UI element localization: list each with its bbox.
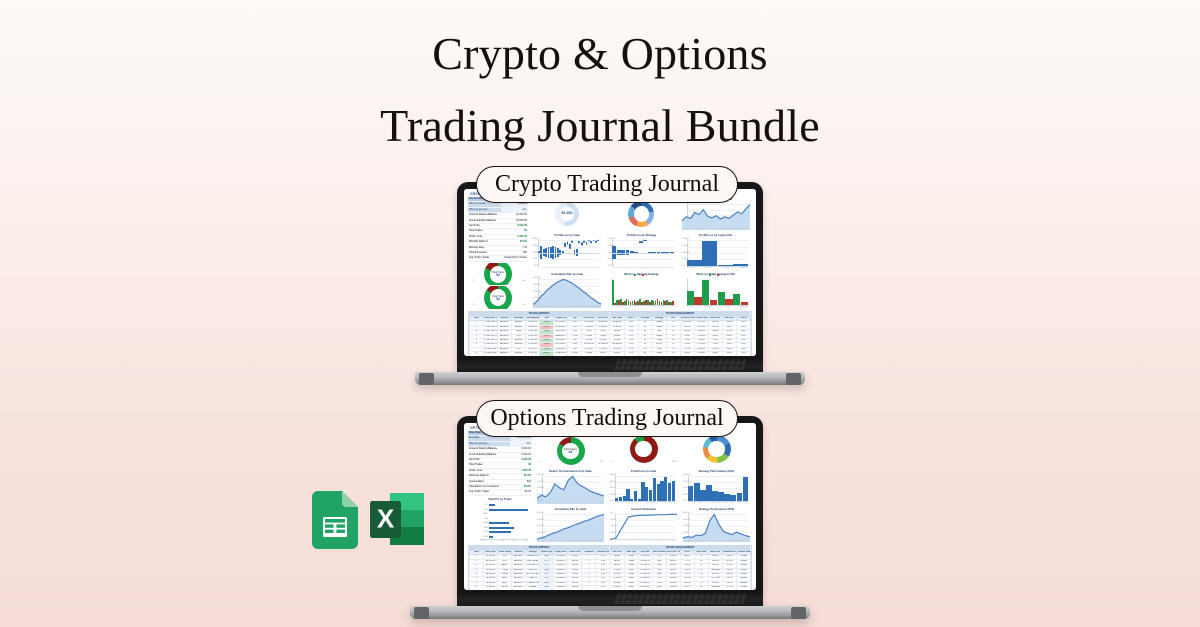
xtick: 16	[570, 267, 572, 269]
xtick: 5	[635, 540, 636, 542]
cumulative-pl-by-trade-area-card: Cumulative P&L by trade8,000.006,000.004…	[531, 272, 603, 309]
xtick: BCS	[724, 502, 727, 504]
total-trades-donut: Total Trades64070	[537, 436, 604, 466]
xtick: 16	[746, 540, 748, 542]
xtick: 22	[587, 306, 589, 308]
xtick: 16	[742, 228, 744, 230]
xtick: ETH/USD	[705, 267, 712, 269]
table-column-header[interactable]: Planned Profit	[680, 317, 694, 321]
options-metrics-table: Start Date1 Jan 2024End Date31 Dec 2024F…	[468, 431, 532, 496]
table-group-header: TRADE MANAGEMENT	[610, 546, 751, 550]
strategy-performance-roi-area-card: Strategy Performance (ROI)300.00%200.00%…	[681, 507, 752, 543]
table-column-header[interactable]: Option Type	[540, 551, 554, 555]
xtick: 16	[672, 306, 674, 308]
xtick: 2	[690, 228, 691, 230]
crypto-journal-label-text: Crypto Trading Journal	[495, 171, 719, 198]
table-column-header[interactable]: Crypto Pair	[554, 317, 568, 321]
file-format-icons: X	[312, 491, 426, 554]
win-loss-trade-by-crypto-pair-bar-legend: WinLoss	[709, 274, 723, 276]
xtick: 1	[688, 540, 689, 542]
metric-label: Account Ending Balance	[468, 218, 501, 223]
xtick: 13	[587, 502, 589, 504]
bar	[672, 481, 675, 501]
options-data-table: TRADE ENTRIESTRADE MANAGEMENTS/NoEntry D…	[468, 545, 752, 590]
table-group-header: TRADE MANAGEMENT	[610, 312, 751, 316]
xtick: 10	[661, 540, 663, 542]
table-cell: BTC/USDT	[554, 321, 568, 325]
xtick: LP	[712, 502, 714, 504]
xtick: 21	[584, 306, 586, 308]
xtick: 16	[570, 306, 572, 308]
profit-loss-by-trade-bar-opt-xticks: 12345678910111213141516	[615, 502, 675, 504]
xtick: 13	[660, 502, 662, 504]
cumulative-pl-by-trade-area-ytick: 8,000.00	[533, 277, 540, 279]
bar	[639, 241, 643, 243]
table-cell: Covered Call	[526, 555, 540, 559]
strategy-performance-donut-plot	[683, 432, 750, 466]
hbar	[489, 536, 493, 538]
bar	[743, 477, 748, 501]
xtick: 13	[562, 306, 564, 308]
xtick: 9	[713, 228, 714, 230]
xtick: 26	[597, 306, 599, 308]
strategy-performance-pnl-bar-card: Strategy Performance (P&L)2,000.001,500.…	[681, 469, 752, 505]
xtick: DOT	[633, 267, 637, 269]
crypto-gauge-1-donut: Total Trade52060	[470, 264, 526, 285]
bar	[634, 491, 637, 501]
xtick: 23	[589, 267, 591, 269]
profit-loss-by-trade-bar-plot: 600.00400.00200.000.00-200.0012345678910…	[533, 238, 601, 269]
hbar-label: META	[480, 536, 488, 538]
profit-loss-by-crypto-pair-bar-xticks: BTC/USDETH/USDSOL/USDADA/USD	[687, 267, 748, 269]
bar	[712, 491, 717, 501]
profit-loss-by-trade-bar-opt-card: Profit/Loss by trade800.00600.00400.0020…	[608, 469, 679, 505]
table-cell: Covered Call	[526, 581, 540, 585]
bar	[706, 485, 711, 501]
profit-loss-by-trade-bar-opt-ytick: 0.00	[610, 500, 614, 502]
xtick: 2	[620, 540, 621, 542]
xtick: 11	[557, 306, 559, 308]
bar	[571, 241, 573, 243]
xtick: 12	[654, 306, 656, 308]
hbar-row: AMD	[480, 526, 528, 529]
table-column-header[interactable]: Trade Type	[624, 551, 638, 555]
xtick: 2	[546, 502, 547, 504]
profit-loss-by-trade-bar-bars	[533, 238, 601, 269]
xtick: LC	[706, 502, 708, 504]
total-trades-donut-center: Total Trades64	[562, 443, 579, 460]
xtick: 12	[582, 502, 584, 504]
xtick: 16	[592, 540, 594, 542]
xtick: 12	[655, 502, 657, 504]
bar	[694, 483, 699, 501]
hbar-label: AAPL	[480, 513, 488, 515]
cumulative-pl-by-trade-area-opt-ytick: 5,000.00	[537, 512, 544, 514]
xtick: 3	[620, 306, 621, 308]
total-pl-by-ticker-hbar-plot: SPYQQQAAPLTSLANVDAAMDMSFTMETA-1,00001,00…	[470, 502, 530, 542]
metric-value: 66.25	[510, 490, 532, 495]
xtick: 19	[578, 267, 580, 269]
xtick: 6	[630, 306, 631, 308]
account-drawdown-line-ytick: 0.00	[610, 512, 614, 514]
xtick: 4	[697, 228, 698, 230]
crypto-table-group-headers: TRADE ENTRIESTRADE MANAGEMENT	[469, 312, 751, 316]
table-column-header[interactable]: Strike Price	[568, 551, 582, 555]
xtick: 18	[576, 267, 578, 269]
xtick: 5	[629, 502, 630, 504]
xtick: 3	[695, 540, 696, 542]
xtick: 11	[667, 540, 669, 542]
crypto-gauge-1-donut-center: Total Trade52	[490, 266, 507, 283]
crypto-gauge-1-donut-center-value: 52	[496, 274, 500, 277]
options-dashboard-body: Start Date1 Jan 2024End Date31 Dec 2024F…	[468, 431, 752, 543]
xtick: MATIC	[654, 267, 659, 269]
hbar-label: TSLA	[480, 518, 488, 520]
xtick: 16	[673, 502, 675, 504]
xtick: 17	[573, 306, 575, 308]
xtick: CAL	[745, 502, 748, 504]
table-cell: 7 Jan 2024 09:00	[484, 321, 498, 325]
xtick: 14	[733, 228, 735, 230]
xtick: 9	[643, 502, 644, 504]
laptop-options-base	[410, 606, 810, 619]
xtick: 9	[641, 306, 642, 308]
options-dashboard: OPTIONS TRADING JOURNAL DASHBOARDStart D…	[464, 423, 756, 590]
hbar-label: SPY	[480, 504, 488, 506]
xtick: 2	[619, 502, 620, 504]
legend-label: Loss	[719, 274, 723, 276]
table-cell: 8 Jan 2024 08:40	[484, 330, 498, 334]
xtick: 10	[554, 267, 556, 269]
xtick: 4	[626, 502, 627, 504]
headline-line-1: Crypto & Options	[0, 18, 1200, 90]
table-column-header[interactable]: Exit Premium	[652, 551, 666, 555]
profit-loss-by-crypto-pair-area-svg	[682, 202, 750, 230]
table-column-header[interactable]: Starting Balance	[526, 317, 540, 321]
page-title: Crypto & Options Trading Journal Bundle	[0, 18, 1200, 162]
laptop-crypto-screen: CRYPTO TRADING JOURNAL DASHBOARDCurrent …	[464, 189, 756, 356]
strategy-performance-roi-area-ytick: 300.00%	[683, 512, 690, 514]
table-column-header[interactable]: Position Size	[694, 317, 708, 321]
table-column-header[interactable]: Expiry Date	[554, 551, 568, 555]
laptop-crypto-lid: CRYPTO TRADING JOURNAL DASHBOARDCurrent …	[457, 182, 763, 372]
bar-group	[718, 278, 733, 305]
win-loss-trade-by-strategy-bar-card: Win/Loss trade by StrategyWinLoss1234567…	[605, 272, 677, 309]
xtick: 0	[492, 540, 493, 542]
total-trades-donut-min: 0	[540, 461, 541, 463]
profit-loss-by-trade-bar-ytick: 200.00	[533, 252, 539, 254]
xtick: 7	[634, 306, 635, 308]
laptop-options-keyboard	[457, 591, 763, 606]
hbar	[489, 504, 495, 506]
crypto-table: S/NoEntry Date / TimeAccountExchangeStar…	[469, 316, 751, 356]
hbar-row: SPY	[480, 504, 528, 507]
bar	[641, 482, 644, 501]
bar	[702, 241, 717, 266]
win-loss-trade-by-strategy-bar-plot: WinLoss12345678910111213141516	[607, 277, 675, 308]
xtick: 14	[663, 306, 665, 308]
xtick: 1,000	[501, 540, 505, 542]
profit-loss-by-strategy-bar-plot: 1,500.001,000.00500.000.00-500.00BTCETHS…	[607, 238, 675, 269]
bar	[668, 483, 671, 501]
profit-loss-by-crypto-pair-bar-ytick: 3,000.00	[682, 245, 689, 247]
hbar-label: NVDA	[480, 522, 488, 524]
laptop-crypto-keyboard	[457, 357, 763, 372]
xtick: 8	[651, 540, 652, 542]
table-column-header[interactable]: Entry Date / Time	[484, 317, 498, 321]
xtick: 5	[554, 540, 555, 542]
xtick: 11	[651, 502, 653, 504]
table-cell: SOL/USDT	[554, 330, 568, 334]
xtick: 5	[700, 228, 701, 230]
metric-row: Avg. Profit / TradeMargin/Short Trades	[468, 256, 528, 261]
profit-loss-by-strategy-bar-ytick: 1,500.00	[607, 238, 614, 240]
xtick: 22	[587, 267, 589, 269]
xtick: 3	[549, 502, 550, 504]
xtick: 15	[669, 502, 671, 504]
xtick: 7	[709, 540, 710, 542]
bar	[653, 478, 656, 501]
hbar-row: NVDA	[480, 522, 528, 525]
xtick: 1	[615, 502, 616, 504]
bar-loss	[694, 297, 701, 305]
table-column-header[interactable]: Net Profit / Loss	[666, 551, 680, 555]
win-rate-donut-center-value: 55.45%	[561, 212, 573, 215]
xtick: 4	[553, 502, 554, 504]
bar-win	[718, 292, 725, 305]
table-column-header[interactable]: Position Status	[736, 551, 750, 555]
table-group-header: TRADE ENTRIES	[469, 312, 610, 316]
xtick: 5	[627, 306, 628, 308]
xtick: 6	[703, 228, 704, 230]
xtick: 1	[687, 228, 688, 230]
return-on-investment-by-trade-line-card: Return On Investment % by trade200.00%15…	[535, 469, 606, 505]
xtick: BNB	[641, 267, 644, 269]
xtick: 5	[702, 540, 703, 542]
cumulative-pl-by-trade-area-ytick: 4,000.00	[533, 291, 540, 293]
xtick: 24	[592, 267, 594, 269]
laptop-options-lid: OPTIONS TRADING JOURNAL DASHBOARDStart D…	[457, 416, 763, 606]
strategy-performance-roi-area-ytick: 100.00%	[683, 525, 690, 527]
xtick: 3	[625, 540, 626, 542]
table-cell: Cash Sec Put	[526, 564, 540, 568]
xtick: AVAX	[645, 267, 649, 269]
xtick: XRP	[629, 267, 632, 269]
profit-loss-donut-max: 100	[672, 461, 676, 463]
profit-loss-by-crypto-pair-bar-ytick: 1,000.00	[682, 258, 689, 260]
xtick: 12	[577, 540, 579, 542]
table-column-header[interactable]: Breakeven Point	[722, 551, 736, 555]
profit-loss-by-crypto-pair-area-xticks: 1234567891011121314151617	[687, 228, 748, 230]
profit-loss-by-strategy-bar-ytick: 500.00	[607, 252, 613, 254]
xtick: 11	[721, 228, 723, 230]
xtick: 2,000	[512, 540, 516, 542]
table-column-header[interactable]: Entry Price	[582, 317, 596, 321]
xtick: 15	[738, 228, 740, 230]
hbar-label: QQQ	[480, 509, 488, 511]
strategy-performance-roi-area-svg	[683, 512, 750, 542]
metric-label: Avg. Profit / Trade	[468, 490, 510, 495]
xtick: 6	[633, 502, 634, 504]
svg-text:X: X	[377, 504, 395, 534]
table-column-header[interactable]: Entry Date	[484, 551, 498, 555]
xtick: 8	[637, 306, 638, 308]
profit-loss-by-strategy-donut-center	[634, 206, 650, 222]
xtick: 14	[664, 502, 666, 504]
xtick: 18	[600, 540, 602, 542]
win-loss-trade-by-crypto-pair-bar-bars	[682, 277, 750, 308]
crypto-dashboard-body: Current Month2024Filter by monthJanuaryF…	[468, 197, 752, 309]
xtick: -1,000	[480, 540, 485, 542]
xtick: 26	[597, 267, 599, 269]
xtick: 25	[595, 306, 597, 308]
xtick: 14	[565, 306, 567, 308]
return-on-investment-by-trade-line-plot: 200.00%150.00%100.00%50.00%0.00%12345678…	[537, 474, 604, 504]
xtick: 11	[578, 502, 580, 504]
metric-row: Avg. Profit / Trade66.25	[468, 490, 532, 495]
profit-loss-by-strategy-bar-xticks: BTCETHSOLADAXRPDOTLTCBNBAVAXLINKMATICATO…	[612, 267, 673, 269]
total-trades-donut-max: 70	[600, 461, 602, 463]
account-drawdown-line-card: Account Drawdown0.00-200.00-400.00-600.0…	[608, 507, 679, 543]
xtick: 6	[641, 540, 642, 542]
total-trades-donut-center-value: 64	[569, 451, 573, 454]
return-on-investment-by-trade-line-ytick: 150.00%	[537, 481, 544, 483]
bar-group	[733, 278, 748, 305]
cumulative-pl-by-trade-area-ytick: 6,000.00	[533, 284, 540, 286]
xtick: 11	[573, 540, 575, 542]
profit-loss-by-crypto-pair-bar-bars	[682, 238, 750, 269]
win-loss-trade-by-crypto-pair-bar-card: Win/Loss Trade by Crypto PairWinLossBTC/…	[680, 272, 752, 309]
profit-loss-by-crypto-pair-bar-card: Profit/Loss by Crypto Pair4,000.003,000.…	[680, 233, 752, 270]
strategy-performance-pnl-bar-ytick: 500.00	[683, 494, 689, 496]
profit-loss-donut-min: 0	[613, 461, 614, 463]
headline-line-2: Trading Journal Bundle	[0, 90, 1200, 162]
cumulative-pl-by-trade-area-ytick: 0.00	[533, 304, 537, 306]
table-cell: DOGE/USDT	[554, 352, 568, 356]
crypto-data-table: TRADE ENTRIESTRADE MANAGEMENTS/NoEntry D…	[468, 311, 752, 356]
xtick: 16	[600, 502, 602, 504]
hbar-row: AAPL	[480, 513, 528, 516]
account-drawdown-line-svg	[610, 512, 677, 542]
xtick: 25	[595, 267, 597, 269]
strategy-performance-roi-area-ytick: 200.00%	[683, 519, 690, 521]
xtick: 6	[557, 540, 558, 542]
xtick: CSP	[699, 502, 702, 504]
profit-loss-by-trade-bar-xticks: 1234567891011121314151617181920212223242…	[538, 267, 599, 269]
win-loss-trade-by-strategy-bar-bars	[607, 277, 675, 308]
cumulative-pl-by-trade-area-opt-ytick: 2,000.00	[537, 532, 544, 534]
xtick: 12	[559, 267, 561, 269]
xtick: 12	[559, 306, 561, 308]
xtick: ATOM	[660, 267, 665, 269]
microsoft-excel-icon-svg: X	[368, 491, 426, 549]
bar-win	[687, 291, 694, 305]
xtick: 4	[551, 540, 552, 542]
xtick: 7	[560, 540, 561, 542]
crypto-journal-label: Crypto Trading Journal	[476, 166, 738, 203]
profit-loss-by-crypto-pair-bar-ytick: 4,000.00	[682, 238, 689, 240]
table-cell: 9 Jan 2024 15:45	[484, 343, 498, 347]
xtick: 7	[636, 502, 637, 504]
strategy-performance-donut	[683, 432, 750, 466]
xtick: 15	[588, 540, 590, 542]
bar	[586, 242, 588, 245]
xtick: LINK	[650, 267, 654, 269]
xtick: 9	[566, 540, 567, 542]
profit-loss-by-trade-bar-ytick: 400.00	[533, 245, 539, 247]
xtick: SOL/USD	[723, 306, 730, 308]
profit-loss-by-trade-bar-opt-ytick: 800.00	[610, 474, 616, 476]
laptop-options: OPTIONS TRADING JOURNAL DASHBOARDStart D…	[455, 416, 765, 616]
win-loss-trade-by-crypto-pair-bar-xticks: BTC/USDETH/USDSOL/USDADA/USD	[687, 306, 748, 308]
xtick: 1	[542, 540, 543, 542]
bar	[581, 242, 583, 245]
xtick: 12	[673, 540, 675, 542]
total-trades-donut-plot: Total Trades64070	[537, 436, 604, 466]
xtick: STR	[731, 502, 734, 504]
bar	[649, 490, 652, 501]
profit-loss-by-strategy-bar-bars	[607, 238, 675, 269]
hbar-row: QQQ	[480, 508, 528, 511]
hbar	[489, 509, 528, 511]
return-on-investment-by-trade-line-svg	[537, 474, 604, 504]
account-drawdown-line-ytick: -600.00	[610, 532, 616, 534]
xtick: 4	[699, 540, 700, 542]
table-body: 102-Jan-24SPYAccount 1Covered CallCALL19…	[470, 555, 751, 590]
legend-item: Win	[709, 274, 715, 276]
legend-item: Loss	[642, 274, 648, 276]
profit-loss-by-trade-bar-card: Profit/Loss by trade600.00400.00200.000.…	[531, 233, 603, 270]
table-cell: 10 Jan 2024 11:10	[484, 347, 498, 351]
laptop-options-screen: OPTIONS TRADING JOURNAL DASHBOARDStart D…	[464, 423, 756, 590]
xtick: 6	[706, 540, 707, 542]
strategy-performance-pnl-bar-bars	[683, 474, 750, 504]
hbar	[489, 522, 509, 524]
win-loss-trade-by-strategy-bar-xticks: 12345678910111213141516	[612, 306, 673, 308]
xtick: 17	[746, 228, 748, 230]
xtick: 14	[591, 502, 593, 504]
xtick: 11	[557, 267, 559, 269]
table-cell: ETH/USDT	[554, 347, 568, 351]
crypto-gauge-2-donut-min: 0	[472, 304, 473, 306]
xtick: BTC/USD	[687, 267, 694, 269]
profit-loss-by-strategy-bar-ytick: 1,000.00	[607, 245, 614, 247]
hbar-label: AMD	[480, 527, 488, 529]
strategy-performance-roi-area-xticks: 12345678910111213141516	[688, 540, 748, 542]
profit-loss-donut-center	[635, 441, 652, 458]
return-on-investment-by-trade-line-ytick: 50.00%	[537, 494, 543, 496]
xtick: 10	[716, 228, 718, 230]
options-table: S/NoEntry DateTicker SymbolAccountStrate…	[469, 550, 751, 590]
strategy-performance-pnl-bar-xticks: CCICCSPLCLPBPSBCSSTRSTGCAL	[688, 502, 748, 504]
table-column-header[interactable]: Take Profit	[610, 317, 624, 321]
bar	[657, 484, 660, 501]
xtick: 13	[658, 306, 660, 308]
xtick: 20	[581, 267, 583, 269]
table-column-header[interactable]: Ticker Symbol	[498, 551, 512, 555]
xtick: 13	[581, 540, 583, 542]
legend-label: Loss	[645, 274, 649, 276]
bar	[724, 494, 729, 501]
legend-label: Win	[711, 274, 714, 276]
metric-label: Avg. Profit / Trade	[468, 256, 501, 261]
profit-loss-by-crypto-pair-bar-ytick: 0.00	[682, 265, 686, 267]
profit-loss-by-strategy-bar-ytick: 0.00	[607, 258, 611, 260]
table-column-header[interactable]: Premium Paid	[596, 551, 610, 555]
xtick: ADA/USD	[740, 306, 748, 308]
xtick: 10	[720, 540, 722, 542]
xtick: 20	[581, 306, 583, 308]
